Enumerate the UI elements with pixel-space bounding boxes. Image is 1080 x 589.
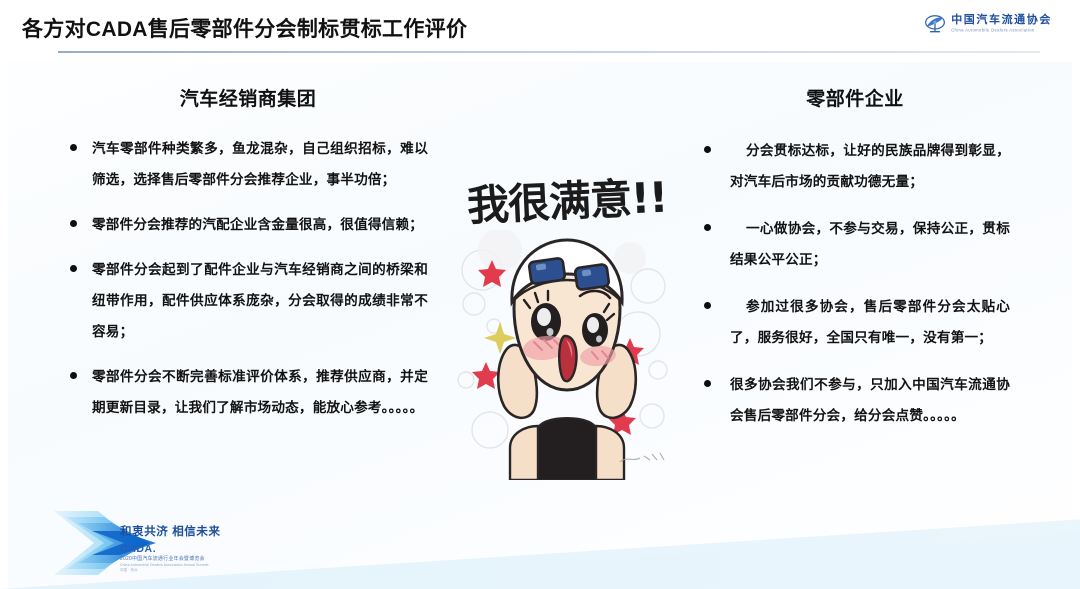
list-item-text: 一心做协会，不参与交易，保持公正，贯标结果公平公正；	[730, 221, 1010, 267]
bullet-dot-icon	[704, 146, 711, 153]
column-heading-right: 零部件企业	[700, 84, 1010, 111]
list-item-text: 参加过很多协会，售后零部件分会太贴心了，服务很好，全国只有唯一，没有第一；	[730, 299, 1010, 345]
satisfaction-illustration: 我很满意!!	[452, 168, 682, 483]
event-slogan: 和衷共济 相信未来	[120, 527, 221, 539]
event-brand: CADA.	[120, 544, 221, 555]
event-location: 中国 · 杭州	[120, 569, 221, 572]
event-name-en: China Automobile Dealers Association Ann…	[120, 564, 221, 567]
bullet-dot-icon	[70, 372, 77, 379]
column-parts-enterprises: 零部件企业 分会贯标达标，让好的民族品牌得到彰显，对汽车后市场的贡献功德无量； …	[700, 84, 1010, 447]
cartoon-girl-icon	[452, 230, 682, 480]
association-name-cn: 中国汽车流通协会	[951, 15, 1052, 26]
list-item-text: 零部件分会推荐的汽配企业含金量很高，很值得信赖；	[92, 217, 423, 232]
association-logo-text: 中国汽车流通协会 China Automobile Dealers Associ…	[951, 15, 1052, 32]
list-item: 很多协会我们不参与，只加入中国汽车流通协会售后零部件分会，给分会点赞。。。。。	[700, 369, 1010, 431]
list-item: 参加过很多协会，售后零部件分会太贴心了，服务很好，全国只有唯一，没有第一；	[700, 291, 1010, 353]
bullet-dot-icon	[70, 265, 77, 272]
header-divider	[58, 51, 1040, 53]
list-item: 分会贯标达标，让好的民族品牌得到彰显，对汽车后市场的贡献功德无量；	[700, 135, 1010, 197]
list-item: 汽车零部件种类繁多，鱼龙混杂，自己组织招标，难以筛选，选择售后零部件分会推荐企业…	[68, 133, 428, 195]
slide-canvas: 各方对CADA售后零部件分会制标贯标工作评价 中国汽车流通协会 China Au…	[0, 0, 1080, 589]
list-item: 零部件分会推荐的汽配企业含金量很高，很值得信赖；	[68, 209, 428, 240]
association-logo: 中国汽车流通协会 China Automobile Dealers Associ…	[924, 13, 1052, 35]
page-title: 各方对CADA售后零部件分会制标贯标工作评价	[22, 13, 467, 43]
slide-header: 各方对CADA售后零部件分会制标贯标工作评价 中国汽车流通协会 China Au…	[0, 0, 1080, 55]
event-logo-text: 和衷共济 相信未来 CADA. 2020中国汽车流通行业年会暨博览会 China…	[120, 527, 221, 573]
bullet-dot-icon	[704, 302, 711, 309]
list-item-text: 很多协会我们不参与，只加入中国汽车流通协会售后零部件分会，给分会点赞。。。。。	[730, 377, 1010, 423]
list-item-text: 汽车零部件种类繁多，鱼龙混杂，自己组织招标，难以筛选，选择售后零部件分会推荐企业…	[92, 141, 428, 187]
event-logo: 和衷共济 相信未来 CADA. 2020中国汽车流通行业年会暨博览会 China…	[52, 505, 272, 583]
cada-association-mark-icon	[924, 13, 946, 35]
bullet-dot-icon	[704, 380, 711, 387]
bullet-dot-icon	[70, 144, 77, 151]
list-item-text: 零部件分会起到了配件企业与汽车经销商之间的桥梁和纽带作用，配件供应体系庞杂，分会…	[92, 262, 428, 339]
list-item: 零部件分会不断完善标准评价体系，推荐供应商，并定期更新目录，让我们了解市场动态，…	[68, 361, 428, 423]
bullet-list-right: 分会贯标达标，让好的民族品牌得到彰显，对汽车后市场的贡献功德无量； 一心做协会，…	[700, 135, 1010, 431]
event-name-cn: 2020中国汽车流通行业年会暨博览会	[120, 557, 221, 562]
bullet-dot-icon	[70, 220, 77, 227]
column-heading-left: 汽车经销商集团	[68, 84, 428, 111]
association-name-en: China Automobile Dealers Association	[951, 28, 1052, 33]
list-item: 零部件分会起到了配件企业与汽车经销商之间的桥梁和纽带作用，配件供应体系庞杂，分会…	[68, 254, 428, 347]
list-item-text: 零部件分会不断完善标准评价体系，推荐供应商，并定期更新目录，让我们了解市场动态，…	[92, 369, 428, 415]
list-item: 一心做协会，不参与交易，保持公正，贯标结果公平公正；	[700, 213, 1010, 275]
illustration-caption: 我很满意!!	[451, 163, 683, 234]
list-item-text: 分会贯标达标，让好的民族品牌得到彰显，对汽车后市场的贡献功德无量；	[730, 143, 1010, 189]
column-dealer-groups: 汽车经销商集团 汽车零部件种类繁多，鱼龙混杂，自己组织招标，难以筛选，选择售后零…	[68, 84, 428, 437]
bullet-list-left: 汽车零部件种类繁多，鱼龙混杂，自己组织招标，难以筛选，选择售后零部件分会推荐企业…	[68, 133, 428, 423]
bullet-dot-icon	[704, 224, 711, 231]
